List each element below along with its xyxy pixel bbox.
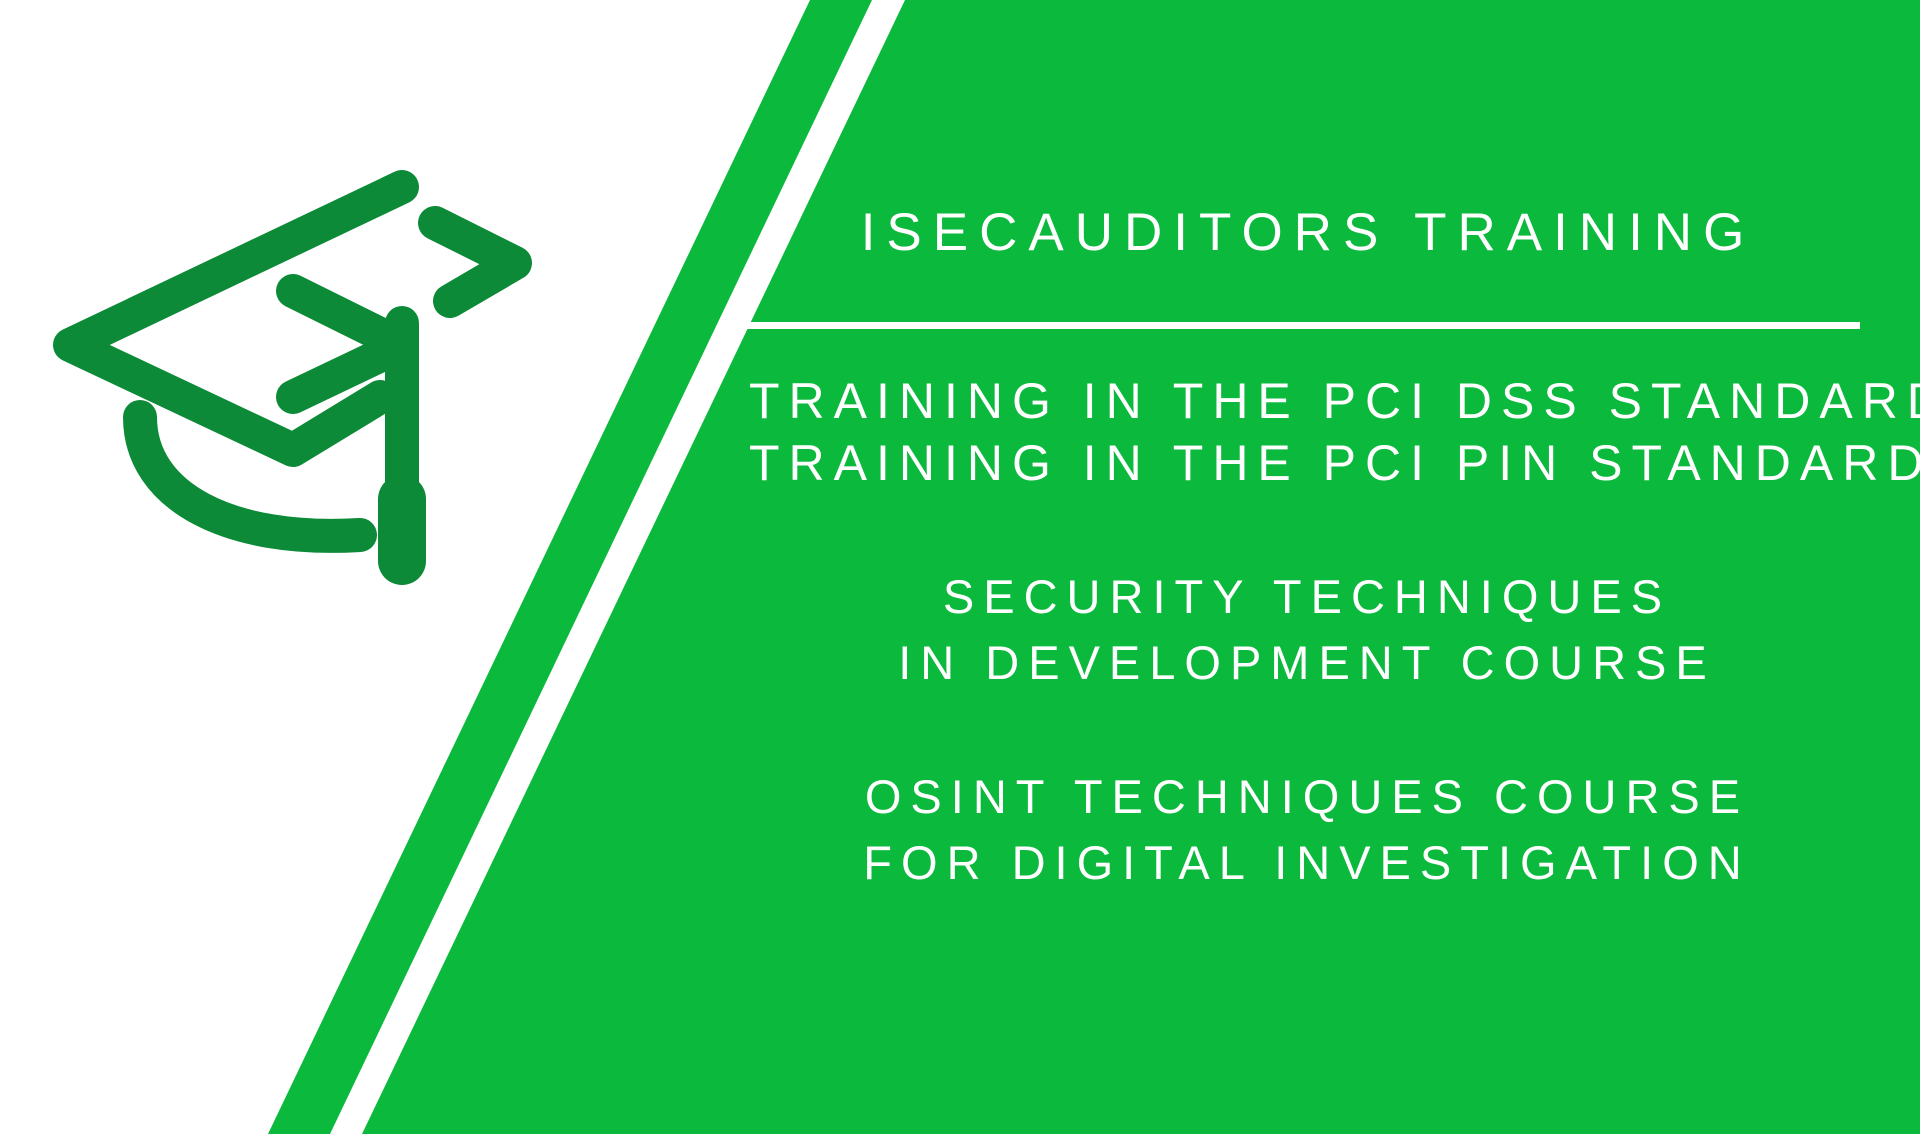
course-line: SECURITY TECHNIQUES bbox=[740, 564, 1865, 630]
course-line: FOR DIGITAL INVESTIGATION bbox=[740, 830, 1865, 896]
tassel-knob bbox=[378, 475, 426, 585]
course-line: TRAINING IN THE PCI DSS STANDARD bbox=[740, 370, 1865, 432]
course-line: IN DEVELOPMENT COURSE bbox=[740, 630, 1865, 696]
course-line: TRAINING IN THE PCI PIN STANDARD bbox=[740, 432, 1865, 494]
course-block-osint-course: OSINT TECHNIQUES COURSE FOR DIGITAL INVE… bbox=[740, 764, 1865, 896]
training-poster: ISECAUDITORS TRAINING TRAINING IN THE PC… bbox=[0, 0, 1920, 1134]
course-block-security-development-course: SECURITY TECHNIQUES IN DEVELOPMENT COURS… bbox=[740, 564, 1865, 696]
course-block-pci-courses: TRAINING IN THE PCI DSS STANDARD TRAININ… bbox=[740, 370, 1865, 494]
text-panel: ISECAUDITORS TRAINING TRAINING IN THE PC… bbox=[740, 0, 1870, 1134]
logo bbox=[50, 105, 550, 585]
course-line: OSINT TECHNIQUES COURSE bbox=[740, 764, 1865, 830]
page-title: ISECAUDITORS TRAINING bbox=[740, 205, 1865, 261]
title-divider bbox=[743, 322, 1860, 329]
graduation-cap-icon bbox=[50, 105, 550, 585]
